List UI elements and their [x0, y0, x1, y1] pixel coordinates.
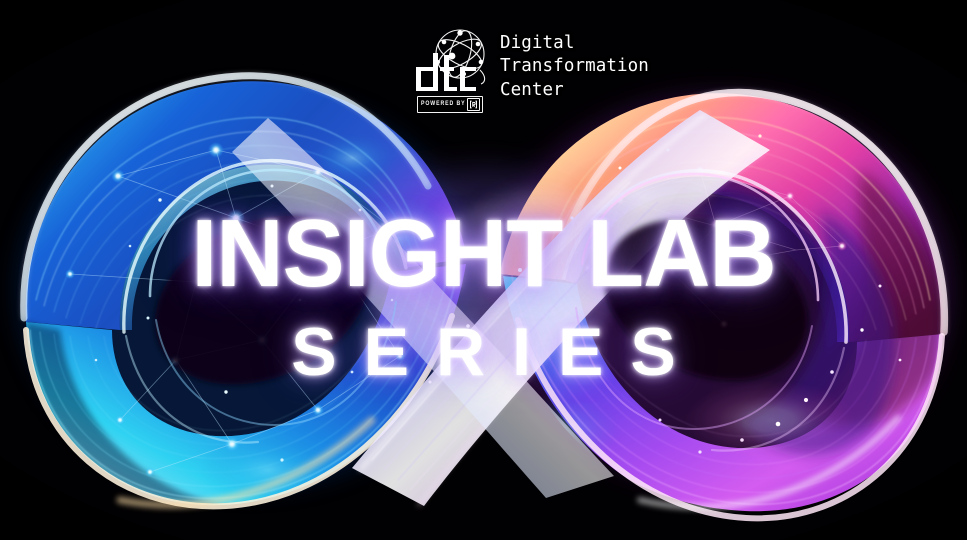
- bracket-r-badge-icon: [467, 98, 480, 111]
- dtc-logo-mark: POWERED BY: [416, 26, 494, 118]
- powered-by-badge: POWERED BY: [417, 96, 483, 113]
- brand-line-1: Digital: [500, 32, 649, 54]
- poster-canvas: POWERED BY Digital Transformation Cent: [0, 0, 967, 540]
- dtc-logo-lockup[interactable]: POWERED BY Digital Transformation Cent: [416, 26, 649, 118]
- powered-by-label: POWERED BY: [421, 101, 465, 108]
- dtc-wordmark: [416, 53, 478, 95]
- brand-line-2: Transformation: [500, 55, 649, 77]
- dtc-name-block: Digital Transformation Center: [500, 26, 649, 101]
- brand-line-3: Center: [500, 79, 649, 101]
